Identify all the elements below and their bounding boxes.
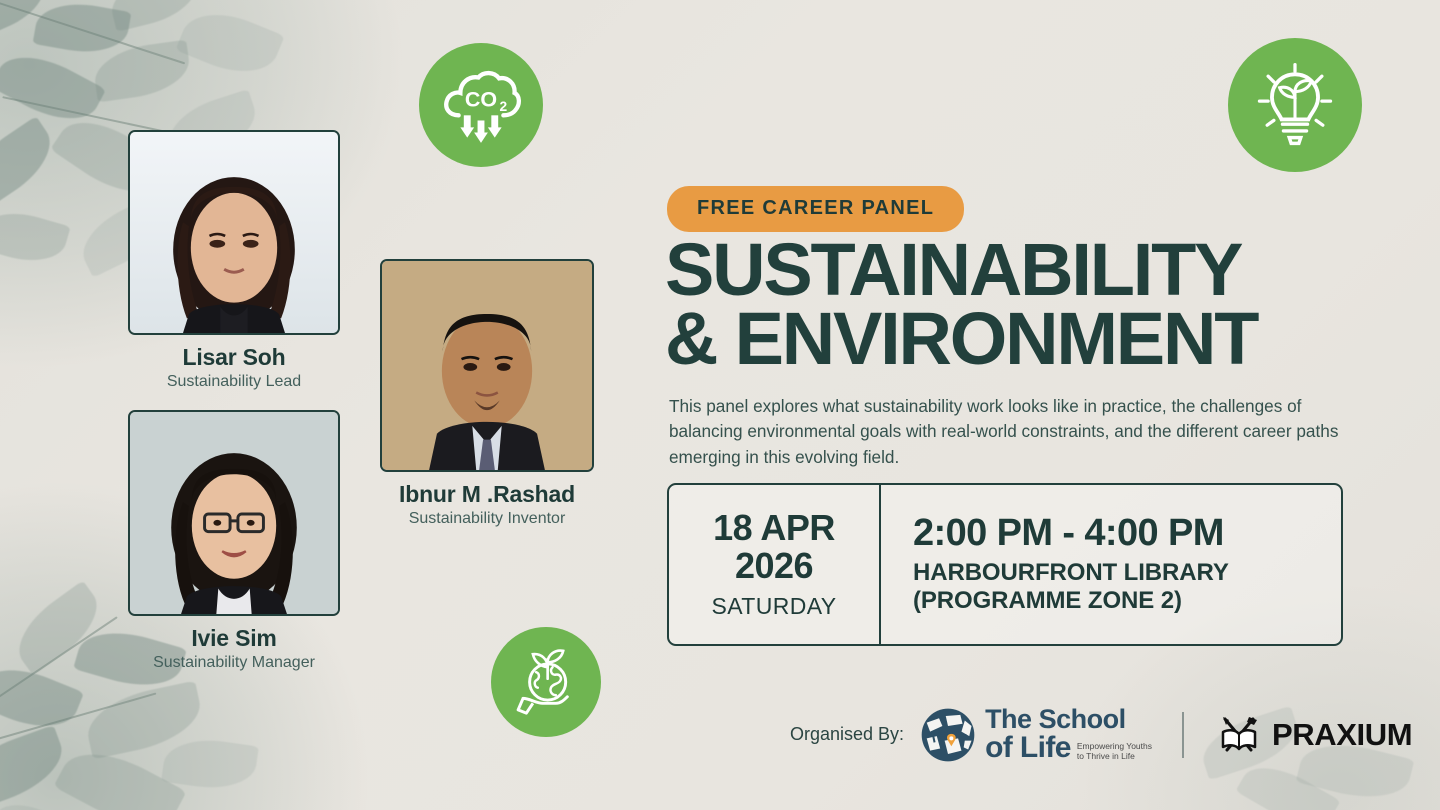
- main-content-column: FREE CAREER PANEL SUSTAINABILITY & ENVIR…: [667, 0, 1377, 810]
- event-date-block: 18 APR 2026 SATURDAY: [669, 485, 881, 644]
- footer-organisers: Organised By: TSOL The School: [790, 706, 1412, 763]
- free-career-panel-badge: FREE CAREER PANEL: [667, 186, 964, 232]
- praxium-wordmark: PRAXIUM: [1272, 717, 1412, 753]
- tsol-logo: TSOL The School of Life Empowering Youth…: [920, 706, 1152, 763]
- tsol-line1: The School: [985, 706, 1152, 733]
- hand-earth-icon-badge: [491, 627, 601, 737]
- tsol-wordmark: The School of Life Empowering Youths to …: [985, 706, 1152, 763]
- event-details-box: 18 APR 2026 SATURDAY 2:00 PM - 4:00 PM H…: [667, 483, 1343, 646]
- speaker-card-ibnur-m-rashad: Ibnur M .Rashad Sustainability Inventor: [380, 259, 594, 528]
- speaker-name: Ibnur M .Rashad: [380, 481, 594, 508]
- event-time: 2:00 PM - 4:00 PM: [913, 513, 1341, 555]
- co2-cloud-icon: CO 2: [438, 62, 524, 148]
- co2-icon-badge: CO 2: [419, 43, 543, 167]
- speaker-photo-ibnur-m-rashad: [380, 259, 594, 472]
- tsol-map-badge-icon: TSOL: [920, 707, 976, 763]
- event-date: 18 APR 2026: [713, 509, 835, 585]
- svg-text:2: 2: [500, 99, 508, 114]
- speaker-name: Lisar Soh: [128, 344, 340, 371]
- praxium-logo: PRAXIUM: [1214, 710, 1412, 760]
- speaker-name: Ivie Sim: [128, 625, 340, 652]
- tsol-line2: of Life: [985, 733, 1071, 763]
- event-time-venue-block: 2:00 PM - 4:00 PM HARBOURFRONT LIBRARY (…: [881, 485, 1341, 644]
- speaker-role: Sustainability Inventor: [380, 510, 594, 528]
- tsol-line2-row: of Life Empowering Youths to Thrive in L…: [985, 733, 1152, 763]
- page-title: SUSTAINABILITY & ENVIRONMENT: [665, 236, 1257, 374]
- speaker-card-lisar-soh: Lisar Soh Sustainability Lead: [128, 130, 340, 391]
- speaker-role: Sustainability Manager: [128, 654, 340, 672]
- hand-holding-earth-icon: [505, 641, 587, 723]
- logo-divider: [1182, 712, 1184, 758]
- event-venue: HARBOURFRONT LIBRARY (PROGRAMME ZONE 2): [913, 559, 1341, 616]
- portrait-ibnur-m-rashad: [382, 261, 592, 470]
- panel-description: This panel explores what sustainability …: [669, 394, 1341, 470]
- portrait-ivie-sim: [130, 412, 338, 614]
- portrait-lisar-soh: [130, 132, 338, 333]
- speaker-card-ivie-sim: Ivie Sim Sustainability Manager: [128, 410, 340, 672]
- tsol-tagline: Empowering Youths to Thrive in Life: [1077, 741, 1152, 763]
- speaker-role: Sustainability Lead: [128, 373, 340, 391]
- speaker-photo-lisar-soh: [128, 130, 340, 335]
- praxium-book-tools-icon: [1214, 710, 1264, 760]
- event-poster: CO 2: [0, 0, 1440, 810]
- svg-text:CO: CO: [465, 88, 497, 112]
- organised-by-label: Organised By:: [790, 724, 904, 745]
- event-weekday: SATURDAY: [711, 593, 836, 620]
- speaker-photo-ivie-sim: [128, 410, 340, 616]
